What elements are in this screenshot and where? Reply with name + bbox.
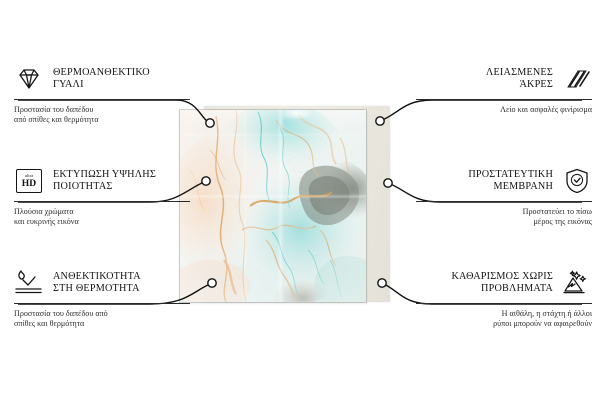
feature-header: ultra HD ΕΚΤΥΠΩΣΗ ΥΨΗΛΗΣ ΠΟΙΟΤΗΤΑΣ [14, 166, 190, 196]
feature-easy-cleaning: ΚΑΘΑΡΙΣΜΟΣ ΧΩΡΙΣ ΠΡΟΒΛΗΜΑΤΑ Η αιθάλη, η … [416, 268, 592, 330]
feature-heat-resistant-glass: ΘΕΡΜΟΑΝΘΕΚΤΙΚΟ ΓΥΑΛΙ Προστασία του δαπέδ… [14, 64, 190, 126]
divider [416, 303, 592, 304]
feature-polished-edges: ΛΕΙΑΣΜΕΝΕΣ ΆΚΡΕΣ Λείο και ασφαλές φινίρι… [416, 64, 592, 115]
divider [14, 99, 190, 100]
infographic-canvas: ΘΕΡΜΟΑΝΘΕΚΤΙΚΟ ΓΥΑΛΙ Προστασία του δαπέδ… [0, 0, 600, 400]
feature-title: ΑΝΘΕΚΤΙΚΟΤΗΤΑ ΣΤΗ ΘΕΡΜΟΤΗΤΑ [53, 271, 141, 296]
feature-title: ΚΑΘΑΡΙΣΜΟΣ ΧΩΡΙΣ ΠΡΟΒΛΗΜΑΤΑ [451, 271, 553, 296]
divider [416, 99, 592, 100]
glass-print-surface [180, 110, 366, 302]
feature-description: Προστασία του δαπέδου από σπίθες και θερ… [14, 309, 190, 330]
feature-high-quality-print: ultra HD ΕΚΤΥΠΩΣΗ ΥΨΗΛΗΣ ΠΟΙΟΤΗΤΑΣ Πλούσ… [14, 166, 190, 228]
marble-pattern-artwork [180, 110, 366, 302]
polished-edges-icon [562, 64, 592, 94]
divider [14, 303, 190, 304]
feature-header: ΚΑΘΑΡΙΣΜΟΣ ΧΩΡΙΣ ΠΡΟΒΛΗΜΑΤΑ [416, 268, 592, 298]
feature-description: Προστατεύει το πίσω μέρος της εικόνας [416, 207, 592, 228]
feature-title: ΕΚΤΥΠΩΣΗ ΥΨΗΛΗΣ ΠΟΙΟΤΗΤΑΣ [53, 169, 156, 194]
easy-cleaning-sparkle-icon [562, 268, 592, 298]
feature-description: Η αιθάλη, η στάχτη ή άλλοι ρύποι μπορούν… [416, 309, 592, 330]
feature-title: ΠΡΟΣΤΑΤΕΥΤΙΚΗ ΜΕΜΒΡΑΝΗ [468, 169, 553, 194]
feature-header: ΛΕΙΑΣΜΕΝΕΣ ΆΚΡΕΣ [416, 64, 592, 94]
ultra-hd-badge-large-text: HD [22, 179, 36, 189]
feature-header: ΘΕΡΜΟΑΝΘΕΚΤΙΚΟ ΓΥΑΛΙ [14, 64, 190, 94]
divider [14, 201, 190, 202]
feature-description: Λείο και ασφαλές φινίρισμα [416, 105, 592, 115]
feature-title: ΘΕΡΜΟΑΝΘΕΚΤΙΚΟ ΓΥΑΛΙ [53, 67, 150, 92]
feature-description: Προστασία του δαπέδου από σπίθες και θερ… [14, 105, 190, 126]
product-image-panel [180, 108, 380, 306]
feature-heat-resistance: ΑΝΘΕΚΤΙΚΟΤΗΤΑ ΣΤΗ ΘΕΡΜΟΤΗΤΑ Προστασία το… [14, 268, 190, 330]
divider [416, 201, 592, 202]
diamond-icon [14, 64, 44, 94]
feature-header: ΑΝΘΕΚΤΙΚΟΤΗΤΑ ΣΤΗ ΘΕΡΜΟΤΗΤΑ [14, 268, 190, 298]
ultra-hd-badge-icon: ultra HD [14, 166, 44, 196]
feature-description: Πλούσια χρώματα και ευκρινής εικόνα [14, 207, 190, 228]
shield-check-icon [562, 166, 592, 196]
feature-title: ΛΕΙΑΣΜΕΝΕΣ ΆΚΡΕΣ [486, 67, 553, 92]
heat-resistant-surface-icon [14, 268, 44, 298]
feature-protective-film: ΠΡΟΣΤΑΤΕΥΤΙΚΗ ΜΕΜΒΡΑΝΗ Προστατεύει το πί… [416, 166, 592, 228]
feature-header: ΠΡΟΣΤΑΤΕΥΤΙΚΗ ΜΕΜΒΡΑΝΗ [416, 166, 592, 196]
